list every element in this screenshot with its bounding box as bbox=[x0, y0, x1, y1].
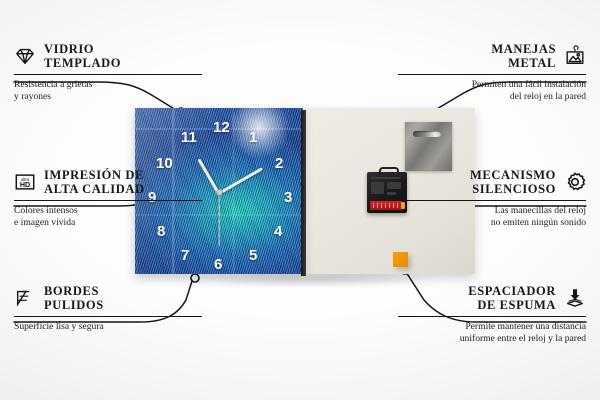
feature-title-line1: MECANISMO bbox=[470, 168, 556, 182]
clock-numeral: 3 bbox=[284, 190, 292, 205]
wall-hanger-icon bbox=[564, 45, 586, 67]
feature-rule bbox=[14, 74, 202, 75]
feature-title-line2: PULIDOS bbox=[44, 298, 104, 312]
feature-subtitle-line2: no emiten ningún sonido bbox=[398, 217, 586, 229]
clock-numeral: 2 bbox=[275, 156, 283, 171]
clock-numeral: 1 bbox=[249, 130, 257, 145]
clock-numeral: 6 bbox=[214, 257, 222, 272]
feature-rule bbox=[14, 316, 202, 317]
feature-vidrio-templado: VIDRIO TEMPLADO Resistencia a grietas y … bbox=[14, 42, 202, 103]
feature-subtitle-line2: y rayones bbox=[14, 91, 202, 103]
mechanism-hanger-loop bbox=[379, 167, 399, 176]
feature-title-line2: TEMPLADO bbox=[44, 56, 121, 70]
mechanism-detail bbox=[371, 177, 401, 179]
feature-espaciador-espuma: ESPACIADOR DE ESPUMA Permite mantener un… bbox=[398, 284, 586, 345]
gear-icon bbox=[564, 171, 586, 193]
feature-rule bbox=[398, 200, 586, 201]
feature-impresion-alta-calidad: ultra HD IMPRESIÓN DE ALTA CALIDAD Color… bbox=[14, 168, 202, 229]
glass-edge bbox=[301, 110, 306, 276]
second-hand bbox=[218, 193, 219, 247]
feature-title-line1: IMPRESIÓN DE bbox=[44, 168, 145, 182]
feature-mecanismo-silencioso: MECANISMO SILENCIOSO Las manecillas del … bbox=[398, 168, 586, 229]
mechanism-detail bbox=[371, 182, 384, 194]
feature-title-line2: SILENCIOSO bbox=[470, 182, 556, 196]
feature-bordes-pulidos: BORDES PULIDOS Superficie lisa y segura bbox=[14, 284, 202, 333]
feature-subtitle-line2: del reloj en la pared bbox=[398, 91, 586, 103]
feature-title-line1: ESPACIADOR bbox=[468, 284, 556, 298]
clock-numeral: 11 bbox=[181, 130, 197, 145]
hanger-slot bbox=[413, 131, 441, 137]
clock-numeral: 5 bbox=[249, 248, 257, 263]
foam-spacer-icon bbox=[564, 287, 586, 309]
foam-spacer bbox=[393, 252, 408, 267]
feature-title-line2: ALTA CALIDAD bbox=[44, 182, 145, 196]
clock-numeral: 12 bbox=[213, 120, 230, 135]
feature-title-line2: METAL bbox=[491, 56, 556, 70]
clock-numeral: 7 bbox=[181, 248, 189, 263]
feature-subtitle-line1: Superficie lisa y segura bbox=[14, 321, 202, 333]
feature-rule bbox=[398, 74, 586, 75]
feature-title-line1: BORDES bbox=[44, 284, 104, 298]
svg-text:HD: HD bbox=[20, 181, 30, 189]
metal-hanger-plate bbox=[405, 122, 452, 171]
mechanism-detail bbox=[387, 192, 396, 195]
feature-subtitle-line2: uniforme entre el reloj y la pared bbox=[398, 333, 586, 345]
clock-center-cap bbox=[216, 189, 223, 196]
feature-title-line1: MANEJAS bbox=[491, 42, 556, 56]
feature-subtitle-line1: Las manecillas del reloj bbox=[398, 205, 586, 217]
ultra-hd-icon: ultra HD bbox=[14, 171, 36, 193]
clock-numeral: 4 bbox=[274, 224, 282, 239]
feature-subtitle-line1: Resistencia a grietas bbox=[14, 79, 202, 91]
feature-subtitle-line1: Permite mantener una distancia bbox=[398, 321, 586, 333]
feature-manejas-metal: MANEJAS METAL Permiten una fácil instala… bbox=[398, 42, 586, 103]
feature-title-line1: VIDRIO bbox=[44, 42, 121, 56]
feature-subtitle-line2: e imagen vívida bbox=[14, 217, 202, 229]
battery-stripes bbox=[373, 203, 399, 208]
feature-subtitle-line1: Colores intensos bbox=[14, 205, 202, 217]
feature-subtitle-line1: Permiten una fácil instalación bbox=[398, 79, 586, 91]
feature-title-line2: DE ESPUMA bbox=[468, 298, 556, 312]
polished-edges-icon bbox=[14, 287, 36, 309]
feature-rule bbox=[398, 316, 586, 317]
feature-rule bbox=[14, 200, 202, 201]
diamond-icon bbox=[14, 45, 36, 67]
infographic-canvas: 12 1 2 3 4 5 6 7 8 9 10 11 bbox=[0, 0, 600, 400]
